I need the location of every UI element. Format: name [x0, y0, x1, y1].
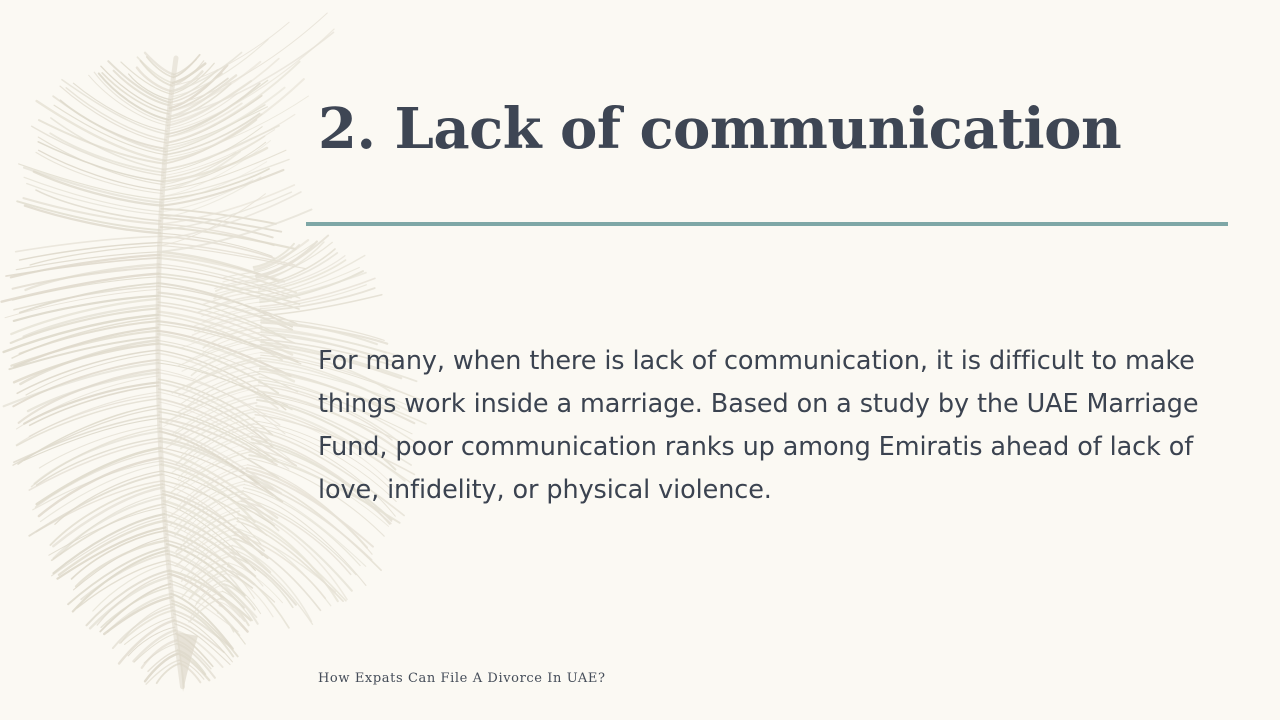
- body-line: Fund, poor communication ranks up among …: [318, 426, 1223, 469]
- footer-caption: How Expats Can File A Divorce In UAE?: [318, 671, 606, 686]
- slide-content: 2. Lack of communication For many, when …: [0, 0, 1280, 720]
- page-title: 2. Lack of communication: [318, 99, 1218, 161]
- slide-canvas: 2. Lack of communication For many, when …: [0, 0, 1280, 720]
- body-paragraph: For many, when there is lack of communic…: [318, 340, 1223, 512]
- body-line: For many, when there is lack of communic…: [318, 340, 1223, 383]
- body-line: things work inside a marriage. Based on …: [318, 383, 1223, 426]
- body-line: love, infidelity, or physical violence.: [318, 469, 1223, 512]
- title-divider: [306, 222, 1228, 226]
